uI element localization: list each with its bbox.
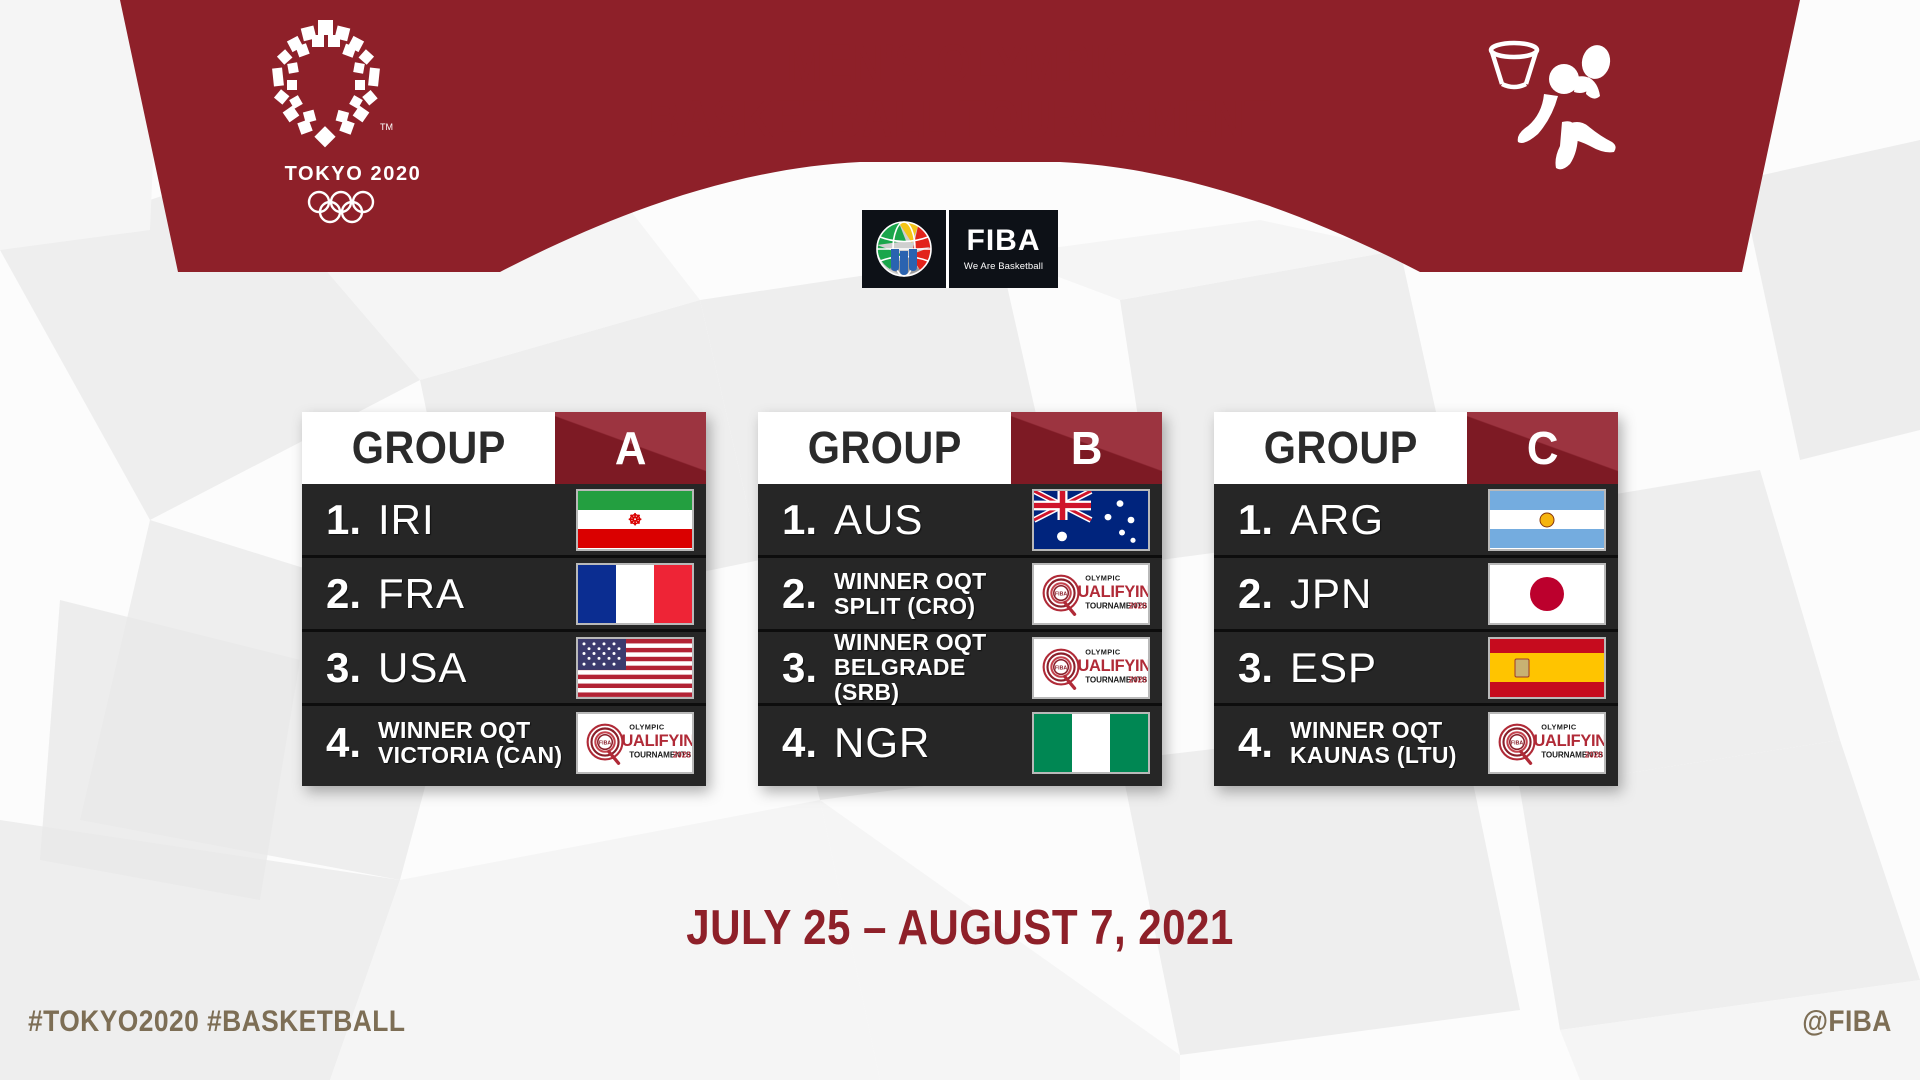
japan-flag [1488,563,1606,625]
row-rank: 3. [782,644,834,692]
svg-text:OLYMPIC: OLYMPIC [1085,573,1121,582]
group-card-b: GROUP B 1. AUS [758,412,1162,786]
iran-flag: ☸ [576,489,694,551]
svg-text:FIBA: FIBA [1055,591,1067,597]
table-row[interactable]: 1. AUS [758,484,1162,558]
oqt-logo-graphic: FIBA OLYMPIC UALIFYING TOURNAMENTS 2020 [1490,714,1604,772]
title-line-1: MEN'S OLYMPIC [173,36,1747,92]
svg-text:2020: 2020 [1585,751,1604,760]
group-cards-container: GROUP A 1. IRI ☸ 2. FRA [0,412,1920,786]
row-rank: 2. [1238,570,1290,618]
oqt-logo: FIBA OLYMPIC UALIFYING TOURNAMENTS 2020 [576,712,694,774]
svg-text:2020: 2020 [673,751,692,760]
row-rank: 1. [1238,496,1290,544]
fiba-logo: FIBA We Are Basketball [862,210,1058,288]
row-team: NGR [834,719,1032,767]
group-c-letter: C [1527,421,1559,475]
row-rank: 3. [1238,644,1290,692]
group-b-label: GROUP [807,422,961,474]
svg-text:UALIFYING: UALIFYING [1077,656,1148,674]
tournament-dates: JULY 25 – AUGUST 7, 2021 [134,900,1785,956]
table-row[interactable]: 1. ARG [1214,484,1618,558]
svg-text:FIBA: FIBA [599,741,611,747]
australia-flag [1032,489,1150,551]
fiba-globe-icon [862,210,946,288]
row-team: WINNER OQT KAUNAS (LTU) [1290,718,1488,768]
nigeria-flag [1032,712,1150,774]
row-rank: 4. [1238,719,1290,767]
oqt-logo: FIBA OLYMPIC UALIFYING TOURNAMENTS 2020 [1488,712,1606,774]
row-team: ESP [1290,644,1488,692]
row-rank: 2. [326,570,378,618]
row-rank: 1. [782,496,834,544]
olympic-rings-icon [302,190,404,224]
row-team: WINNER OQT SPLIT (CRO) [834,569,1032,619]
group-a-header: GROUP A [302,412,706,484]
svg-text:OLYMPIC: OLYMPIC [1085,647,1121,656]
row-rank: 4. [782,719,834,767]
table-row[interactable]: 2. FRA [302,558,706,632]
table-row[interactable]: 1. IRI ☸ [302,484,706,558]
group-b-letter: B [1071,421,1103,475]
table-row[interactable]: 3. ESP [1214,632,1618,706]
argentina-flag [1488,489,1606,551]
france-flag [576,563,694,625]
oqt-logo: FIBA OLYMPIC UALIFYING TOURNAMENTS 2020 [1032,637,1150,699]
group-a-label: GROUP [351,422,505,474]
tokyo-2020-wordmark: TOKYO 2020 [258,163,448,186]
group-b-label-box: GROUP [758,412,1011,484]
row-team: JPN [1290,570,1488,618]
usa-flag [576,637,694,699]
oqt-logo: FIBA OLYMPIC UALIFYING TOURNAMENTS 2020 [1032,563,1150,625]
row-team: FRA [378,570,576,618]
oqt-logo-graphic: FIBA OLYMPIC UALIFYING TOURNAMENTS 2020 [1034,639,1148,697]
group-a-letter-box: A [555,412,706,484]
page-title: MEN'S OLYMPIC BASKETBALL TOURNAMENT [0,36,1920,148]
table-row[interactable]: 3. WINNER OQT BELGRADE (SRB) FIBA OLYMPI… [758,632,1162,706]
svg-text:UALIFYING: UALIFYING [1077,582,1148,600]
title-line-2: BASKETBALL TOURNAMENT [173,92,1747,148]
table-row[interactable]: 4. WINNER OQT VICTORIA (CAN) FIBA OLYMPI… [302,706,706,780]
group-c-letter-box: C [1467,412,1618,484]
svg-text:OLYMPIC: OLYMPIC [1541,722,1577,731]
footer-handle: @FIBA [1802,1005,1892,1039]
row-team: WINNER OQT VICTORIA (CAN) [378,718,576,768]
row-rank: 4. [326,719,378,767]
table-row[interactable]: 4. WINNER OQT KAUNAS (LTU) FIBA OLYMPIC … [1214,706,1618,780]
row-team: IRI [378,496,576,544]
group-b-letter-box: B [1011,412,1162,484]
svg-text:FIBA: FIBA [1511,741,1523,747]
row-team: WINNER OQT BELGRADE (SRB) [834,630,1032,705]
row-rank: 2. [782,570,834,618]
group-b-header: GROUP B [758,412,1162,484]
group-a-label-box: GROUP [302,412,555,484]
group-card-a: GROUP A 1. IRI ☸ 2. FRA [302,412,706,786]
group-c-label-box: GROUP [1214,412,1467,484]
fiba-tagline: We Are Basketball [964,261,1043,272]
svg-text:OLYMPIC: OLYMPIC [629,722,665,731]
fiba-wordmark: FIBA [967,226,1041,256]
row-rank: 1. [326,496,378,544]
row-team: USA [378,644,576,692]
svg-text:2020: 2020 [1129,675,1148,684]
row-team: ARG [1290,496,1488,544]
group-c-header: GROUP C [1214,412,1618,484]
svg-text:FIBA: FIBA [1055,665,1067,671]
svg-text:UALIFYING: UALIFYING [621,732,692,750]
table-row[interactable]: 4. NGR [758,706,1162,780]
oqt-logo-graphic: FIBA OLYMPIC UALIFYING TOURNAMENTS 2020 [1034,565,1148,623]
footer-hashtags: #TOKYO2020 #BASKETBALL [28,1005,405,1039]
table-row[interactable]: 2. JPN [1214,558,1618,632]
row-team: AUS [834,496,1032,544]
group-c-label: GROUP [1263,422,1417,474]
table-row[interactable]: 3. USA [302,632,706,706]
oqt-logo-graphic: FIBA OLYMPIC UALIFYING TOURNAMENTS 2020 [578,714,692,772]
group-card-c: GROUP C 1. ARG 2. JPN [1214,412,1618,786]
svg-text:2020: 2020 [1129,601,1148,610]
group-a-letter: A [615,421,647,475]
table-row[interactable]: 2. WINNER OQT SPLIT (CRO) FIBA OLYMPIC U… [758,558,1162,632]
row-rank: 3. [326,644,378,692]
svg-text:UALIFYING: UALIFYING [1533,732,1604,750]
spain-flag [1488,637,1606,699]
